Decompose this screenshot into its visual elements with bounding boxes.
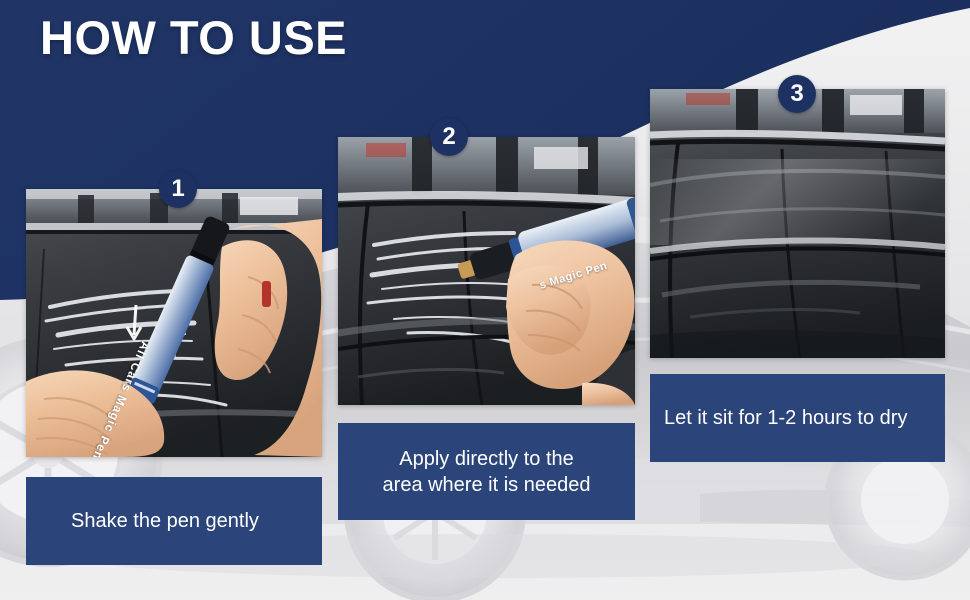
step-1-caption-text: Shake the pen gently: [71, 508, 259, 534]
step-panel-2: s Magic Pen 2: [338, 137, 635, 405]
step-badge-1: 1: [159, 170, 197, 208]
step-badge-2: 2: [430, 118, 468, 156]
step-2-caption: Apply directly to the area where it is n…: [338, 423, 635, 520]
step-3-photo: [650, 89, 945, 358]
step-1-caption: Shake the pen gently: [26, 477, 322, 565]
step-3-caption: Let it sit for 1-2 hours to dry: [650, 374, 945, 462]
how-to-use-infographic: HOW TO USE: [0, 0, 970, 600]
step-panel-1: All Cars Magic Pen 1: [26, 189, 322, 457]
step-1-photo: All Cars Magic Pen: [26, 189, 322, 457]
step-2-caption-line-2: area where it is needed: [383, 472, 591, 498]
step-badge-3: 3: [778, 75, 816, 113]
step-3-caption-text: Let it sit for 1-2 hours to dry: [664, 405, 907, 431]
step-2-photo: s Magic Pen: [338, 137, 635, 405]
step-2-caption-line-1: Apply directly to the: [399, 446, 574, 472]
step-panel-3: 3: [650, 89, 945, 358]
